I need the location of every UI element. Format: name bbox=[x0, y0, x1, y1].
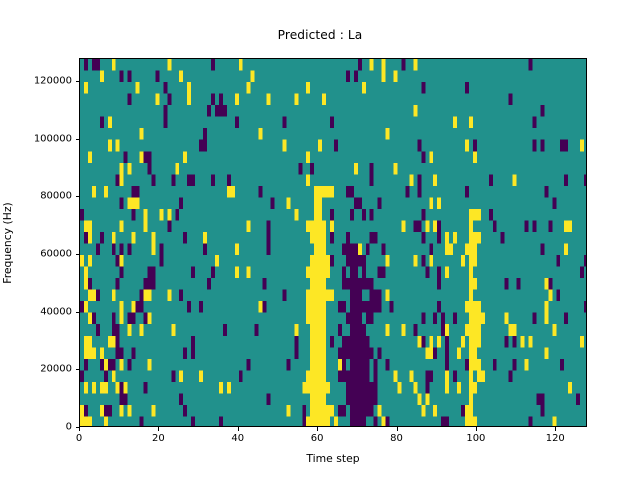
x-tick-mark bbox=[238, 427, 239, 431]
y-tick-mark bbox=[76, 81, 80, 82]
x-tick-label: 80 bbox=[390, 433, 403, 444]
x-axis-label: Time step bbox=[79, 452, 587, 465]
x-tick-mark bbox=[397, 427, 398, 431]
y-tick-label: 0 bbox=[0, 422, 72, 433]
x-tick-label: 20 bbox=[152, 433, 165, 444]
y-axis-label: Frequency (Hz) bbox=[1, 202, 14, 283]
y-tick-label: 80000 bbox=[0, 191, 72, 202]
x-tick-label: 100 bbox=[466, 433, 485, 444]
x-tick-label: 0 bbox=[76, 433, 82, 444]
x-tick-mark bbox=[555, 427, 556, 431]
y-tick-mark bbox=[76, 427, 80, 428]
x-tick-mark bbox=[79, 427, 80, 431]
y-tick-mark bbox=[76, 254, 80, 255]
matplotlib-figure: Predicted : La 0204060801001200200004000… bbox=[0, 0, 640, 480]
y-tick-label: 100000 bbox=[0, 133, 72, 144]
y-tick-mark bbox=[76, 312, 80, 313]
x-tick-mark bbox=[476, 427, 477, 431]
y-tick-mark bbox=[76, 369, 80, 370]
x-tick-label: 60 bbox=[311, 433, 324, 444]
x-tick-mark bbox=[317, 427, 318, 431]
x-tick-mark bbox=[158, 427, 159, 431]
y-tick-label: 40000 bbox=[0, 306, 72, 317]
y-tick-label: 20000 bbox=[0, 364, 72, 375]
heatmap-image bbox=[80, 59, 587, 427]
chart-title: Predicted : La bbox=[0, 28, 640, 42]
heatmap-axes bbox=[79, 58, 587, 427]
x-tick-label: 40 bbox=[231, 433, 244, 444]
y-tick-mark bbox=[76, 196, 80, 197]
x-tick-label: 120 bbox=[546, 433, 565, 444]
y-tick-mark bbox=[76, 139, 80, 140]
y-tick-label: 120000 bbox=[0, 76, 72, 87]
